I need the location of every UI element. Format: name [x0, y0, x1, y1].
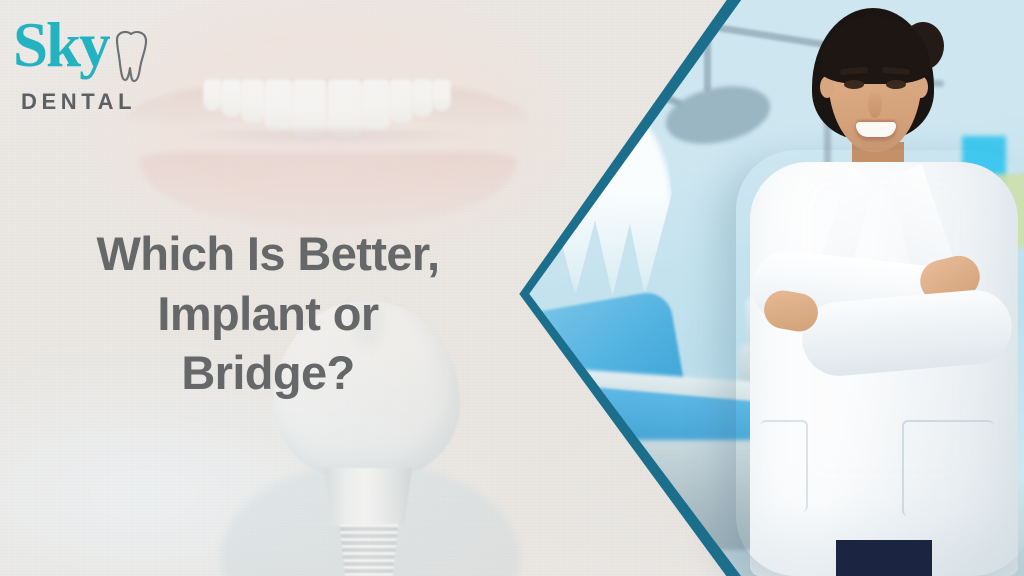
headline-line-2: Implant or	[24, 284, 512, 344]
eye-left	[844, 80, 864, 89]
headline-line-1: Which Is Better,	[24, 224, 512, 284]
nose	[868, 92, 882, 118]
dental-promo-banner: Which Is Better, Implant or Bridge? Sky …	[0, 0, 1024, 576]
trousers	[836, 540, 932, 576]
coat-pocket-left	[760, 420, 808, 512]
tooth-graphic-icon	[548, 106, 672, 296]
tooth-icon	[108, 28, 154, 84]
eye-right	[886, 80, 906, 89]
logo-wordmark-primary: Sky	[13, 14, 109, 77]
page-title: Which Is Better, Implant or Bridge?	[24, 224, 512, 403]
logo-wordmark-secondary: DENTAL	[21, 89, 136, 115]
brand-logo[interactable]: Sky DENTAL	[13, 14, 173, 114]
headline-line-3: Bridge?	[24, 343, 512, 403]
smile-mouth	[856, 122, 896, 137]
coat-pocket-right	[902, 420, 994, 516]
dentist-portrait	[716, 0, 1024, 576]
